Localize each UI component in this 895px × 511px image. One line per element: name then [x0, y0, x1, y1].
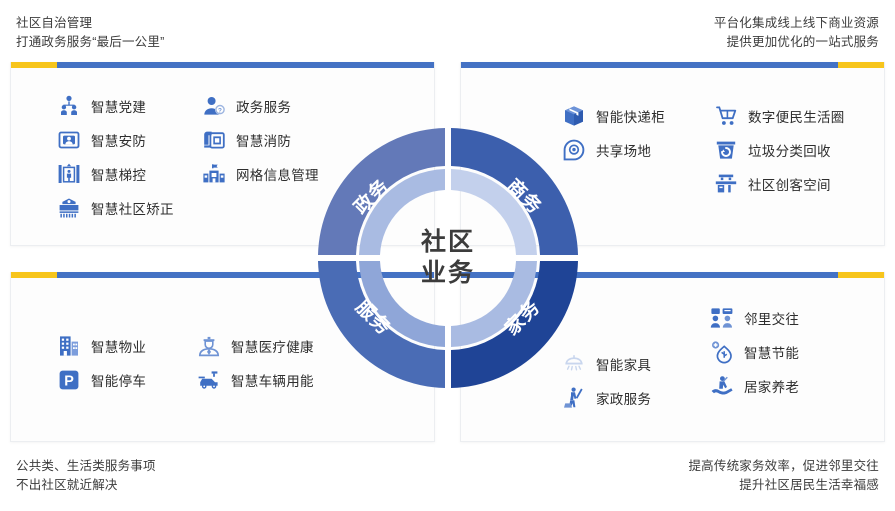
person-help-icon: ? [201, 93, 227, 119]
feature-column: 邻里交往 智慧节能 居家养老 [709, 302, 799, 404]
list-item-label: 网格信息管理 [236, 164, 319, 184]
list-item[interactable]: 网格信息管理 [201, 158, 319, 189]
list-item[interactable]: 智慧医疗健康 [196, 330, 314, 361]
list-item-label: 数字便民生活圈 [748, 106, 845, 126]
apartment-icon [56, 333, 82, 359]
feature-column: 智慧党建 智慧安防 智慧梯控 智慧社区矫正 [56, 90, 174, 226]
elevator-icon [56, 161, 82, 187]
list-item-label: 共享场地 [596, 140, 651, 160]
list-item-label: 政务服务 [236, 96, 291, 116]
courthouse-icon [56, 195, 82, 221]
list-item[interactable]: 智慧车辆用能 [196, 364, 314, 395]
list-item-label: 智慧党建 [91, 96, 146, 116]
org-chart-icon [56, 93, 82, 119]
list-item[interactable]: 居家养老 [709, 370, 799, 401]
list-item-label: 社区创客空间 [748, 174, 831, 194]
svg-text:?: ? [218, 107, 222, 114]
list-item[interactable]: 垃圾分类回收 [713, 134, 845, 165]
list-item[interactable]: ? 政务服务 [201, 90, 319, 121]
doctor-icon [196, 333, 222, 359]
list-item[interactable]: P 智能停车 [56, 364, 146, 395]
neighbors-chat-icon [709, 305, 735, 331]
list-item-label: 智能快递柜 [596, 106, 665, 126]
elder-care-icon [709, 373, 735, 399]
list-item[interactable]: 数字便民生活圈 [713, 100, 845, 131]
maker-desk-icon [713, 171, 739, 197]
list-item[interactable]: 智慧物业 [56, 330, 146, 361]
feature-column: 智慧医疗健康 智慧车辆用能 [196, 330, 314, 398]
caption-bottom-right: 提高传统家务效率，促进邻里交往 提升社区居民生活幸福感 [688, 457, 879, 495]
fire-hydrant-icon [201, 127, 227, 153]
caption-top-right: 平台化集成线上线下商业资源 提供更加优化的一站式服务 [714, 14, 879, 52]
list-item[interactable]: 智慧安防 [56, 124, 174, 155]
list-item-label: 智慧车辆用能 [231, 370, 314, 390]
list-item-label: 垃圾分类回收 [748, 140, 831, 160]
shopping-cart-icon [713, 103, 739, 129]
list-item-label: 智慧物业 [91, 336, 146, 356]
list-item[interactable]: 邻里交往 [709, 302, 799, 333]
list-item-label: 邻里交往 [744, 308, 799, 328]
caption-bottom-left: 公共类、生活类服务事项 不出社区就近解决 [16, 457, 156, 495]
list-item-label: 智慧梯控 [91, 164, 146, 184]
list-item[interactable]: 智慧社区矫正 [56, 192, 174, 223]
feature-column: 智慧物业 P 智能停车 [56, 330, 146, 398]
list-item-label: 智慧社区矫正 [91, 198, 174, 218]
list-item[interactable]: 智慧消防 [201, 124, 319, 155]
energy-leaf-icon [709, 339, 735, 365]
list-item-label: 智慧安防 [91, 130, 146, 150]
list-item[interactable]: 智慧党建 [56, 90, 174, 121]
ring-outer [318, 128, 578, 388]
list-item-label: 智能停车 [91, 370, 146, 390]
list-item-label: 家政服务 [596, 388, 651, 408]
list-item[interactable]: 社区创客空间 [713, 168, 845, 199]
caption-top-left: 社区自治管理 打通政务服务“最后一公里” [16, 14, 164, 52]
surveillance-icon [56, 127, 82, 153]
list-item-label: 智慧医疗健康 [231, 336, 314, 356]
list-item[interactable]: 智慧梯控 [56, 158, 174, 189]
feature-column: ? 政务服务 智慧消防 网格信息管理 [201, 90, 319, 192]
list-item-label: 智慧节能 [744, 342, 799, 362]
svg-text:P: P [64, 373, 74, 389]
list-item-label: 智慧消防 [236, 130, 291, 150]
grid-building-icon [201, 161, 227, 187]
list-item-label: 居家养老 [744, 376, 799, 396]
community-business-donut: 政务 商务 服务 家务 社区 业务 [312, 122, 584, 394]
list-item-label: 智能家具 [596, 354, 651, 374]
parking-sign-icon: P [56, 367, 82, 393]
feature-column: 数字便民生活圈 垃圾分类回收 社区创客空间 [713, 100, 845, 202]
recycle-bin-icon [713, 137, 739, 163]
vehicle-icon [196, 367, 222, 393]
list-item[interactable]: 智慧节能 [709, 336, 799, 367]
